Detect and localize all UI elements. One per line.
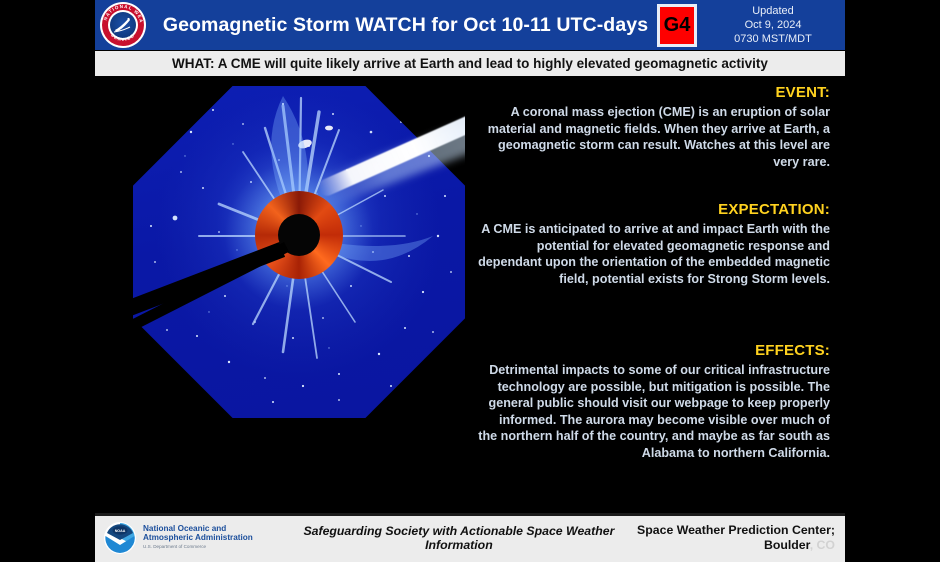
footer-center-line-1: Space Weather Prediction Center; [635,523,835,538]
updated-time: 0730 MST/MDT [713,32,833,46]
footer-tagline: Safeguarding Society with Actionable Spa… [253,524,635,552]
section-event: EVENT: A coronal mass ejection (CME) is … [478,84,830,170]
noaa-line-3: U.S. Department of Commerce [143,545,253,550]
section-expectation: EXPECTATION: A CME is anticipated to arr… [478,201,830,287]
svg-text:NOAA: NOAA [115,529,126,533]
national-weather-service-seal-icon: NATIONAL WEATHER SERVICE [100,2,146,48]
section-effects-body: Detrimental impacts to some of our criti… [478,362,830,462]
storm-scale-badge: G4 [657,4,697,47]
svg-text:SERVICE: SERVICE [110,32,136,42]
section-effects-title: EFFECTS: [478,342,830,359]
section-expectation-body: A CME is anticipated to arrive at and im… [478,221,830,287]
footer-center-name: Space Weather Prediction Center; Boulder… [635,523,835,553]
alert-poster: NATIONAL WEATHER SERVICE Geomagnetic Sto… [0,0,940,562]
noaa-line-2: Atmospheric Administration [143,534,253,543]
section-expectation-title: EXPECTATION: [478,201,830,218]
footer-bar: NOAA National Oceanic and Atmospheric Ad… [95,513,845,562]
header-bar: NATIONAL WEATHER SERVICE Geomagnetic Sto… [95,0,845,50]
svg-text:NATIONAL WEATHER: NATIONAL WEATHER [100,2,144,24]
footer-divider [95,513,845,516]
section-effects: EFFECTS: Detrimental impacts to some of … [478,342,830,462]
noaa-seagull-icon: NOAA [103,521,137,555]
what-summary-text: WHAT: A CME will quite likely arrive at … [172,56,768,71]
what-summary-bar: WHAT: A CME will quite likely arrive at … [95,51,845,76]
section-event-body: A coronal mass ejection (CME) is an erup… [478,104,830,170]
footer-center-line-3: , CO [810,538,835,552]
lasco-coronagraph-cme-image [133,86,465,418]
page-title: Geomagnetic Storm WATCH for Oct 10-11 UT… [146,14,657,37]
updated-label: Updated [713,4,833,18]
section-event-title: EVENT: [478,84,830,101]
updated-date: Oct 9, 2024 [713,18,833,32]
updated-block: Updated Oct 9, 2024 0730 MST/MDT [713,4,833,46]
noaa-branding: NOAA National Oceanic and Atmospheric Ad… [103,521,253,555]
footer-center-line-2: Boulder [764,538,810,552]
